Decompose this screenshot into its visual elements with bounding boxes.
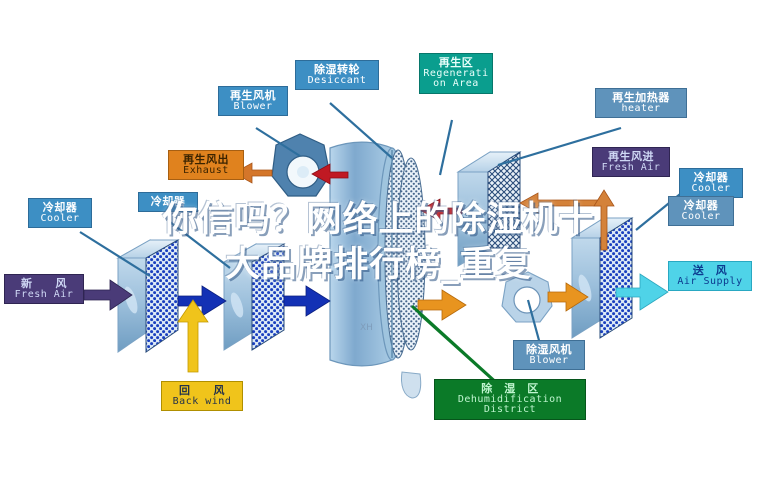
label-desiccant[interactable]: 除湿转轮 Desiccant — [295, 60, 379, 90]
label-dehum-district-cn: 除 湿 区 — [437, 383, 583, 395]
overlay-line-1: 你信吗？网络上的除湿机十 — [162, 200, 594, 240]
label-cooler-right-en: Cooler — [682, 184, 740, 195]
label-regen-area-en2: on Area — [422, 79, 490, 90]
leader-line-green — [412, 306, 500, 386]
label-dehum-blower[interactable]: 除湿风机 Blower — [513, 340, 585, 370]
label-regen-area-cn: 再生区 — [422, 57, 490, 69]
label-exhaust[interactable]: 再生风出 Exhaust — [168, 150, 244, 180]
label-back-wind-en: Back wind — [164, 397, 240, 408]
label-fresh-air-en: Fresh Air — [7, 290, 81, 301]
overlay-line-2: 大品牌排行榜_重复 — [0, 243, 757, 288]
label-exhaust-en: Exhaust — [171, 166, 241, 177]
label-regen-blower-cn: 再生风机 — [221, 90, 285, 102]
label-dehum-district[interactable]: 除 湿 区 Dehumidification District — [434, 379, 586, 420]
label-desiccant-cn: 除湿转轮 — [298, 64, 376, 76]
label-exhaust-cn: 再生风出 — [171, 154, 241, 166]
diagram-canvas: XH — [0, 0, 757, 488]
svg-text:XH: XH — [360, 323, 373, 333]
label-regen-fresh-air-en: Fresh Air — [595, 163, 667, 174]
label-desiccant-en: Desiccant — [298, 76, 376, 87]
label-dehum-district-en2: District — [437, 405, 583, 416]
label-dehum-blower-en: Blower — [516, 356, 582, 367]
label-regen-blower[interactable]: 再生风机 Blower — [218, 86, 288, 116]
label-regen-fresh-air-cn: 再生风进 — [595, 151, 667, 163]
label-regen-heater-cn: 再生加热器 — [598, 92, 684, 104]
label-regen-heater[interactable]: 再生加热器 heater — [595, 88, 687, 118]
label-cooler-right[interactable]: 冷却器 Cooler — [679, 168, 743, 198]
label-regen-heater-en: heater — [598, 104, 684, 115]
label-regen-area[interactable]: 再生区 Regenerati on Area — [419, 53, 493, 94]
label-back-wind-cn: 回 风 — [164, 385, 240, 397]
process-arrow-2 — [284, 286, 330, 316]
label-dehum-blower-cn: 除湿风机 — [516, 344, 582, 356]
overlay-headline: 你信吗？网络上的除湿机十 大品牌排行榜_重复 — [0, 198, 757, 288]
label-regen-fresh-air[interactable]: 再生风进 Fresh Air — [592, 147, 670, 177]
label-back-wind[interactable]: 回 风 Back wind — [161, 381, 243, 411]
dry-air-arrow-1 — [418, 290, 466, 320]
label-cooler-right-cn: 冷却器 — [682, 172, 740, 184]
label-regen-blower-en: Blower — [221, 102, 285, 113]
